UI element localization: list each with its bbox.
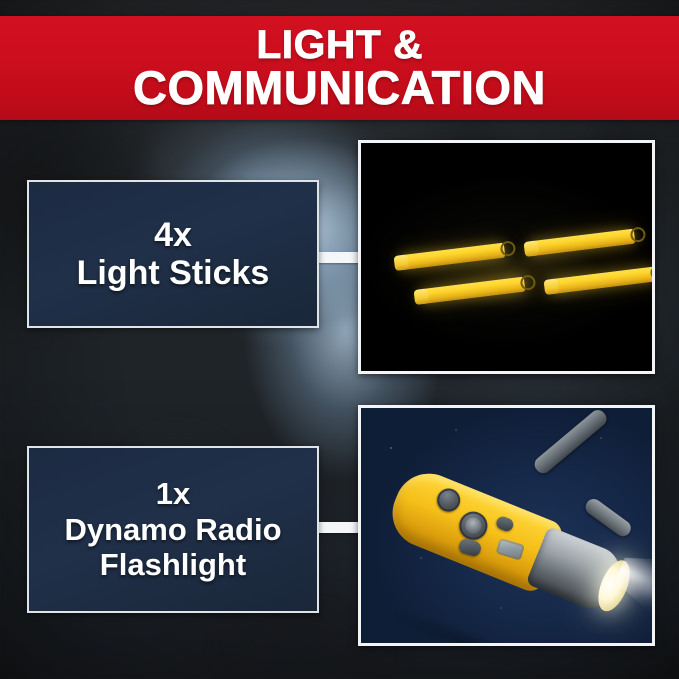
header-title-line-2: COMMUNICATION <box>133 65 546 110</box>
item-name-flashlight: Dynamo Radio Flashlight <box>29 512 317 583</box>
header-banner: LIGHT & COMMUNICATION <box>0 16 679 120</box>
infographic-canvas: LIGHT & COMMUNICATION 4x Light Sticks 1x… <box>0 0 679 679</box>
quantity-flashlight: 1x <box>156 477 190 512</box>
label-box-dynamo-radio-flashlight: 1x Dynamo Radio Flashlight <box>27 446 319 613</box>
header-title-line-1: LIGHT & <box>256 26 423 64</box>
connector-bar-flashlight <box>316 522 362 533</box>
crank-arm-icon <box>582 496 633 540</box>
connector-bar-light-sticks <box>316 252 362 263</box>
quantity-light-sticks: 4x <box>154 216 192 254</box>
photo-light-sticks <box>358 140 655 374</box>
photo-dynamo-radio-flashlight <box>358 405 655 646</box>
label-box-light-sticks: 4x Light Sticks <box>27 180 319 328</box>
item-name-light-sticks: Light Sticks <box>71 254 276 293</box>
